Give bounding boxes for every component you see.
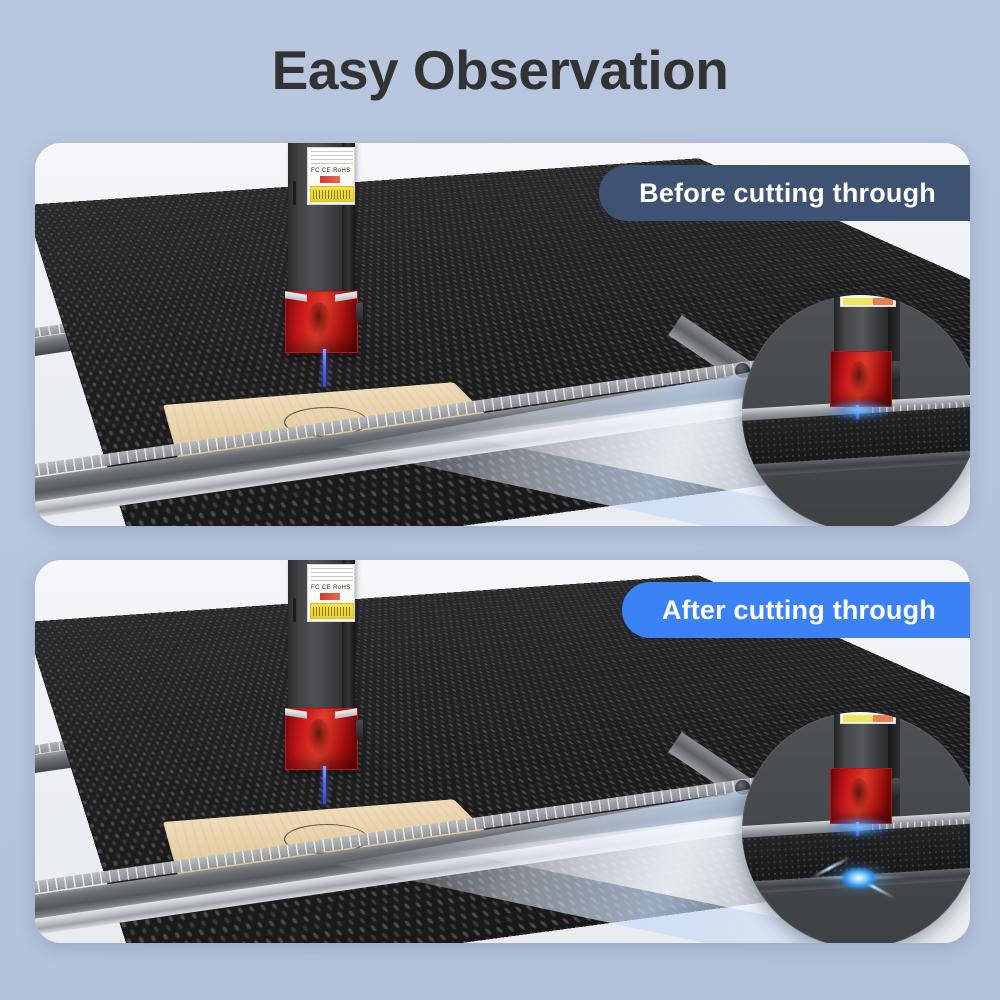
badge-after-cutting: After cutting through — [622, 582, 970, 638]
module-side-connector — [356, 720, 363, 739]
label-text-lines — [311, 151, 353, 165]
inset-compliance-label — [840, 295, 896, 307]
certification-marks: FC CE RoHS — [311, 167, 353, 176]
compliance-label: FC CE RoHS — [307, 147, 355, 205]
inset-module-connector — [892, 361, 900, 381]
surface-glow-spot — [824, 816, 894, 838]
through-cut-glow-burst — [804, 852, 914, 904]
hazard-sticker-icon — [310, 186, 354, 202]
laser-module-housing — [285, 291, 358, 353]
gantry-slot — [293, 181, 296, 205]
hazard-sticker-icon — [310, 603, 354, 619]
page-title: Easy Observation — [0, 40, 1000, 101]
panel-card-before: FC CE RoHS Before cutting — [35, 143, 970, 526]
product-photo-before: FC CE RoHS Before cutting — [35, 143, 970, 526]
product-photo-after: FC CE RoHS — [35, 560, 970, 943]
gantry-slot — [293, 598, 296, 622]
label-warning-strip — [320, 176, 340, 183]
laser-module-housing — [285, 708, 358, 770]
panel-card-after: FC CE RoHS — [35, 560, 970, 943]
surface-glow-spot — [824, 399, 894, 421]
compliance-label: FC CE RoHS — [307, 564, 355, 622]
magnifier-inset-after — [742, 712, 970, 943]
magnifier-inset-before — [742, 295, 970, 526]
glow-core — [842, 868, 876, 888]
inset-module-connector — [892, 778, 900, 798]
laser-beam — [323, 766, 326, 804]
badge-before-cutting: Before cutting through — [599, 165, 970, 221]
certification-marks: FC CE RoHS — [311, 584, 353, 593]
label-text-lines — [311, 568, 353, 582]
module-side-connector — [356, 303, 363, 322]
label-warning-strip — [320, 593, 340, 600]
inset-compliance-label — [840, 712, 896, 724]
laser-beam — [323, 349, 326, 387]
